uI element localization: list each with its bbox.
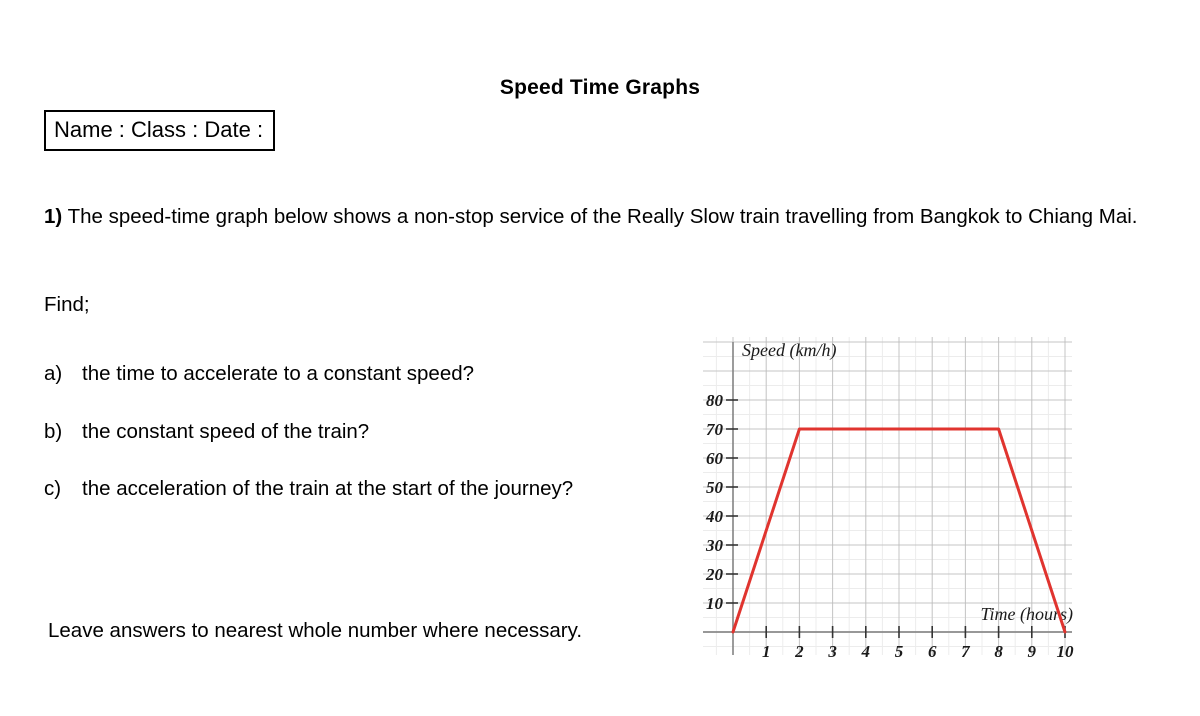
x-tick-label: 9: [1028, 642, 1037, 659]
x-tick-label: 6: [928, 642, 937, 659]
y-axis-title: Speed (km/h): [742, 340, 836, 361]
question-prompt: 1) The speed-time graph below shows a no…: [44, 203, 1139, 230]
y-tick-label: 20: [705, 565, 724, 584]
y-tick-label: 10: [706, 594, 724, 613]
x-axis-tick-labels: 12345678910: [762, 642, 1074, 659]
y-tick-label: 30: [705, 536, 724, 555]
list-item: b) the constant speed of the train?: [44, 419, 604, 446]
find-label: Find;: [44, 293, 90, 317]
y-tick-label: 50: [706, 478, 724, 497]
x-tick-label: 3: [827, 642, 837, 659]
list-item: c) the acceleration of the train at the …: [44, 476, 604, 503]
name-class-date-box[interactable]: Name : Class : Date :: [44, 110, 275, 151]
x-tick-label: 7: [961, 642, 971, 659]
sub-question-text: the acceleration of the train at the sta…: [82, 476, 604, 503]
chart-canvas: 1020304050607080 12345678910 Speed (km/h…: [700, 334, 1075, 659]
x-tick-label: 10: [1057, 642, 1075, 659]
y-tick-label: 70: [706, 420, 724, 439]
page-title: Speed Time Graphs: [0, 76, 1200, 100]
x-tick-label: 8: [994, 642, 1003, 659]
y-tick-label: 40: [705, 507, 724, 526]
question-number: 1): [44, 205, 62, 228]
x-tick-label: 1: [762, 642, 771, 659]
list-item: a) the time to accelerate to a constant …: [44, 361, 604, 388]
sub-question-list: a) the time to accelerate to a constant …: [44, 361, 604, 503]
x-tick-label: 2: [794, 642, 804, 659]
x-tick-label: 5: [895, 642, 904, 659]
axis-tick-marks: [726, 400, 1065, 638]
x-tick-label: 4: [861, 642, 871, 659]
sub-question-text: the time to accelerate to a constant spe…: [82, 361, 604, 388]
sub-question-marker: a): [44, 361, 82, 388]
sub-question-marker: b): [44, 419, 82, 446]
speed-time-graph: 1020304050607080 12345678910 Speed (km/h…: [700, 334, 1075, 659]
sub-question-text: the constant speed of the train?: [82, 419, 604, 446]
footnote-instruction: Leave answers to nearest whole number wh…: [48, 617, 608, 644]
y-tick-label: 60: [706, 449, 724, 468]
question-body: The speed-time graph below shows a non-s…: [68, 205, 1138, 228]
sub-question-marker: c): [44, 476, 82, 503]
y-tick-label: 80: [706, 391, 724, 410]
